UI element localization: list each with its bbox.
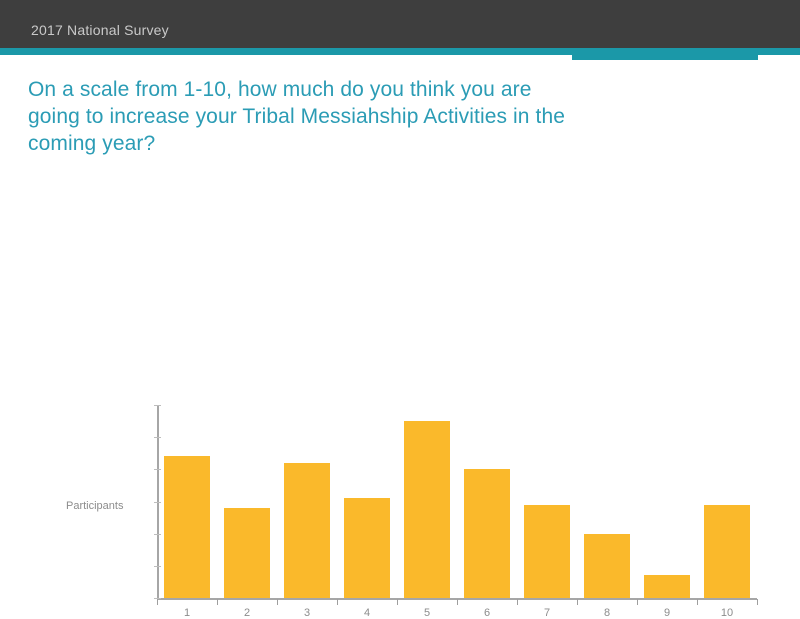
header-title: 2017 National Survey: [31, 22, 169, 38]
x-axis-tick: [277, 599, 278, 605]
bar-4: [344, 498, 390, 598]
question-title: On a scale from 1-10, how much do you th…: [28, 76, 578, 157]
y-axis-label: Participants: [66, 500, 123, 512]
bar-5: [404, 421, 450, 598]
x-axis-label-2: 2: [224, 607, 270, 619]
x-axis-label-7: 7: [524, 607, 570, 619]
x-axis-label-5: 5: [404, 607, 450, 619]
x-axis-label-9: 9: [644, 607, 690, 619]
x-axis-tick: [217, 599, 218, 605]
x-axis-label-6: 6: [464, 607, 510, 619]
bar-6: [464, 469, 510, 598]
x-axis-label-3: 3: [284, 607, 330, 619]
x-axis-label-1: 1: [164, 607, 210, 619]
x-axis-tick: [637, 599, 638, 605]
bar-8: [584, 534, 630, 598]
x-axis-tick: [757, 599, 758, 605]
bar-3: [284, 463, 330, 598]
x-axis-label-4: 4: [344, 607, 390, 619]
header-accent-block: [572, 48, 758, 60]
x-axis-label-8: 8: [584, 607, 630, 619]
bars-layer: [157, 405, 757, 598]
bar-1: [164, 456, 210, 598]
bar-9: [644, 575, 690, 598]
x-axis-tick: [697, 599, 698, 605]
x-axis-tick: [457, 599, 458, 605]
x-axis-tick: [157, 599, 158, 605]
bar-10: [704, 505, 750, 598]
bar-7: [524, 505, 570, 598]
bar-chart: Participants 12345678910: [0, 195, 800, 435]
x-axis-tick: [577, 599, 578, 605]
x-axis-tick: [337, 599, 338, 605]
x-axis-label-10: 10: [704, 607, 750, 619]
x-axis-tick: [517, 599, 518, 605]
x-axis-tick: [397, 599, 398, 605]
bar-2: [224, 508, 270, 598]
